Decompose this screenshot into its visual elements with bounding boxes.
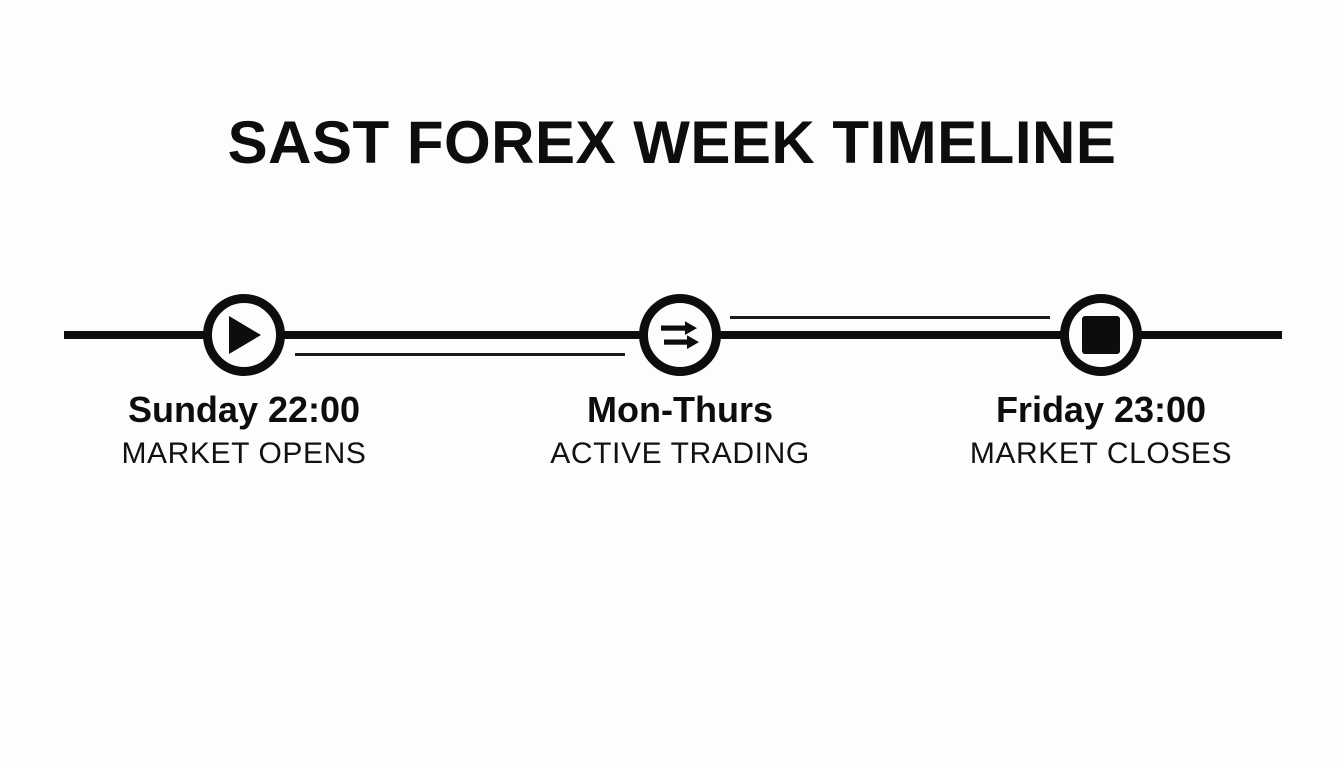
timeline-label-active-trading: Mon-Thurs ACTIVE TRADING <box>500 388 860 472</box>
page-title: SAST FOREX WEEK TIMELINE <box>0 108 1344 178</box>
milestone-title: Mon-Thurs <box>500 388 860 432</box>
timeline-label-market-close: Friday 23:00 MARKET CLOSES <box>921 388 1281 472</box>
timeline-label-market-open: Sunday 22:00 MARKET OPENS <box>64 388 424 472</box>
timeline-node-market-open[interactable] <box>203 294 285 376</box>
milestone-title: Friday 23:00 <box>921 388 1281 432</box>
milestone-title: Sunday 22:00 <box>64 388 424 432</box>
timeline-infographic: SAST FOREX WEEK TIMELINE <box>0 0 1344 768</box>
milestone-subtitle: MARKET OPENS <box>64 436 424 472</box>
timeline-accent-line-segment-1 <box>295 353 625 356</box>
timeline-accent-line-segment-2 <box>730 316 1050 319</box>
play-icon <box>224 314 264 356</box>
timeline-node-active-trading[interactable] <box>639 294 721 376</box>
milestone-subtitle: ACTIVE TRADING <box>500 436 860 472</box>
milestone-subtitle: MARKET CLOSES <box>921 436 1281 472</box>
double-arrow-right-icon <box>658 313 702 357</box>
timeline-node-market-close[interactable] <box>1060 294 1142 376</box>
stop-square-icon <box>1082 316 1120 354</box>
